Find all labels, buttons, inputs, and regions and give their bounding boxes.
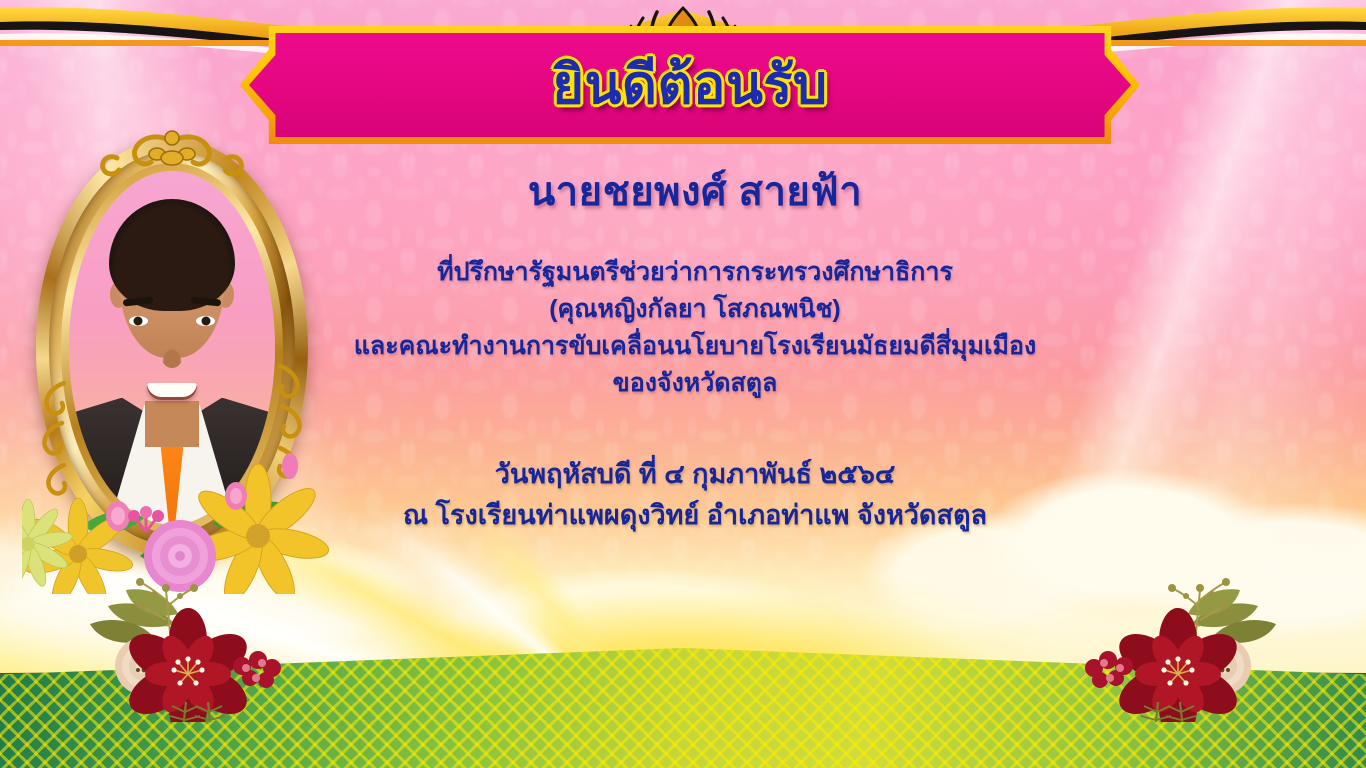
text-content: นายชยพงศ์ สายฟ้า ที่ปรึกษารัฐมนตรีช่วยว่… bbox=[330, 170, 1060, 535]
pink-rosebud-right bbox=[225, 482, 247, 510]
photo-nose bbox=[162, 348, 182, 368]
frame-crest-ornament bbox=[87, 128, 257, 190]
olive-leaves bbox=[90, 589, 178, 643]
event-venue: ณ โรงเรียนท่าแพผดุงวิทย์ อำเภอท่าแพ จังห… bbox=[330, 495, 1060, 536]
welcome-title: ยินดีต้อนรับ bbox=[240, 26, 1140, 144]
portrait-frame bbox=[36, 138, 308, 558]
role-line-3: และคณะทำงานการขับเคลื่อนนโยบายโรงเรียนมั… bbox=[330, 328, 1060, 365]
photo-smile bbox=[147, 383, 197, 400]
role-block: ที่ปรึกษารัฐมนตรีช่วยว่าการกระทรวงศึกษาธ… bbox=[330, 254, 1060, 402]
event-date: วันพฤหัสบดี ที่ ๔ กุมภาพันธ์ ๒๕๖๔ bbox=[330, 454, 1060, 495]
photo-eye-left bbox=[129, 316, 148, 326]
red-flower-corner-right bbox=[1080, 562, 1310, 722]
olive-leaves bbox=[1188, 589, 1276, 643]
guest-name: นายชยพงศ์ สายฟ้า bbox=[330, 170, 1060, 214]
pink-rosebud-left bbox=[106, 501, 130, 531]
welcome-banner-slide: ยินดีต้อนรับ bbox=[0, 0, 1366, 768]
role-line-1: ที่ปรึกษารัฐมนตรีช่วยว่าการกระทรวงศึกษาธ… bbox=[330, 254, 1060, 291]
event-block: วันพฤหัสบดี ที่ ๔ กุมภาพันธ์ ๒๕๖๔ ณ โรงเ… bbox=[330, 454, 1060, 535]
role-line-2: (คุณหญิงกัลยา โสภณพนิช) bbox=[330, 291, 1060, 328]
welcome-banner: ยินดีต้อนรับ bbox=[240, 26, 1140, 144]
pink-bud-top bbox=[282, 453, 298, 479]
role-line-4: ของจังหวัดสตูล bbox=[330, 365, 1060, 402]
red-flower-corner-left bbox=[56, 562, 286, 722]
